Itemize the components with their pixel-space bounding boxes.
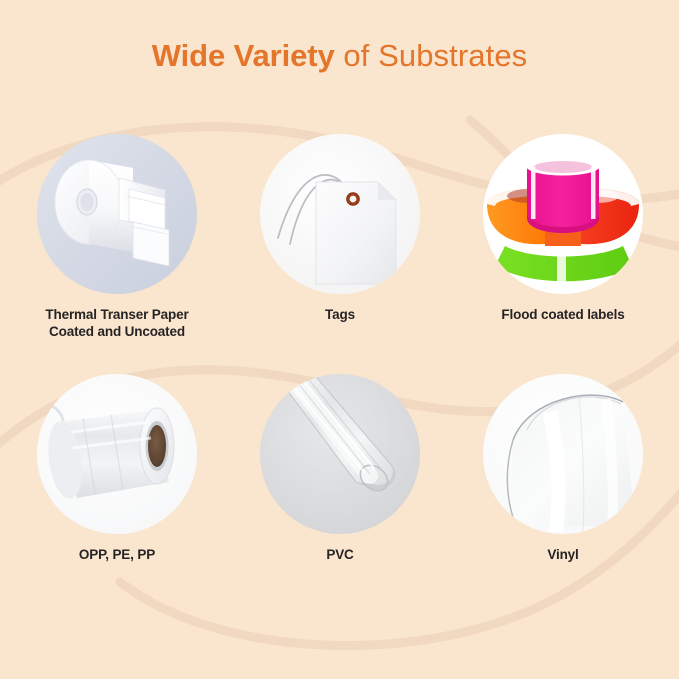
product-caption-opp-pe-pp: OPP, PE, PP	[4, 546, 230, 563]
page-title-bold: Wide Variety	[152, 38, 335, 73]
caption-line-1: Tags	[325, 307, 355, 322]
product-caption-vinyl: Vinyl	[450, 546, 676, 563]
shipping-tag-icon	[260, 134, 420, 294]
product-image-flood-coated-labels	[483, 134, 643, 294]
disc-background-tags	[260, 134, 420, 294]
product-cell-flood-coated-labels[interactable]: Flood coated labels	[450, 118, 676, 323]
product-caption-flood-coated-labels: Flood coated labels	[450, 306, 676, 323]
product-caption-tags: Tags	[227, 306, 453, 323]
plastic-film-roll-icon	[37, 374, 197, 534]
caption-line-1: OPP, PE, PP	[79, 547, 155, 562]
caption-line-1: Vinyl	[547, 547, 578, 562]
disc-background-opp	[37, 374, 197, 534]
disc-background-flood	[483, 134, 643, 294]
product-cell-opp-pe-pp[interactable]: OPP, PE, PP	[4, 358, 230, 563]
page-header: Wide Variety of Substrates	[0, 0, 679, 112]
white-label-roll-icon	[37, 134, 197, 294]
product-cell-vinyl[interactable]: Vinyl	[450, 358, 676, 563]
product-caption-pvc: PVC	[227, 546, 453, 563]
clear-pvc-sheet-icon	[260, 374, 420, 534]
product-caption-thermal-transfer-paper: Thermal Transer Paper Coated and Uncoate…	[4, 306, 230, 341]
disc-background-thermal	[37, 134, 197, 294]
caption-line-2: Coated and Uncoated	[4, 323, 230, 340]
caption-line-1: PVC	[326, 547, 353, 562]
product-image-tags	[260, 134, 420, 294]
clear-vinyl-film-icon	[483, 374, 643, 534]
caption-line-1: Flood coated labels	[501, 307, 624, 322]
page-title-light: of Substrates	[335, 38, 528, 73]
disc-background-pvc	[260, 374, 420, 534]
product-cell-tags[interactable]: Tags	[227, 118, 453, 323]
page-title: Wide Variety of Substrates	[152, 38, 528, 74]
product-image-thermal-transfer-paper	[37, 134, 197, 294]
disc-background-vinyl	[483, 374, 643, 534]
product-cell-thermal-transfer-paper[interactable]: Thermal Transer Paper Coated and Uncoate…	[4, 118, 230, 341]
caption-line-1: Thermal Transer Paper	[45, 307, 188, 322]
product-grid: Thermal Transer Paper Coated and Uncoate…	[0, 118, 679, 638]
product-image-opp-pe-pp	[37, 374, 197, 534]
fluorescent-label-rolls-icon	[483, 134, 643, 294]
product-image-vinyl	[483, 374, 643, 534]
product-image-pvc	[260, 374, 420, 534]
product-cell-pvc[interactable]: PVC	[227, 358, 453, 563]
